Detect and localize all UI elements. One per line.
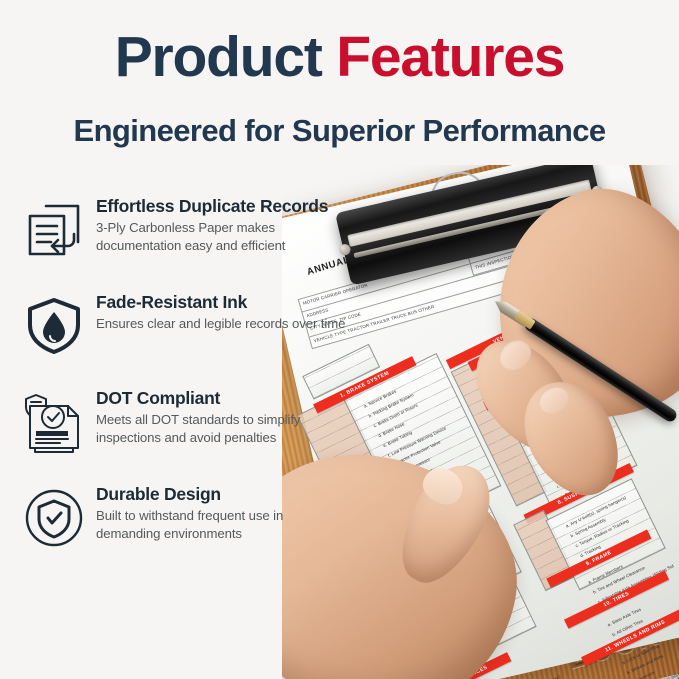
feature-description: Ensures clear and legible records over t… <box>96 315 348 333</box>
feature-item: DOT Compliant Meets all DOT standards to… <box>18 388 348 484</box>
shield-ink-drop-icon <box>22 294 86 358</box>
feature-item: Fade-Resistant Ink Ensures clear and leg… <box>18 292 348 388</box>
title-part-features: Features <box>336 25 564 89</box>
shield-check-circle-icon <box>22 486 86 550</box>
feature-description: Built to withstand frequent use in deman… <box>96 507 348 542</box>
feature-title: Durable Design <box>96 484 348 505</box>
page-title: Product Features <box>0 26 679 88</box>
title-part-product: Product <box>115 25 337 89</box>
page-subtitle: Engineered for Superior Performance <box>0 113 679 149</box>
feature-title: DOT Compliant <box>96 388 348 409</box>
feature-item: Durable Design Built to withstand freque… <box>18 484 348 580</box>
document-shield-check-icon <box>22 390 86 454</box>
feature-description: Meets all DOT standards to simplify insp… <box>96 411 348 446</box>
feature-description: 3-Ply Carbonless Paper makes documentati… <box>96 219 348 254</box>
infographic-canvas: Product Features Engineered for Superior… <box>0 0 679 679</box>
feature-title: Fade-Resistant Ink <box>96 292 348 313</box>
duplicate-documents-icon <box>22 198 86 262</box>
feature-item: Effortless Duplicate Records 3-Ply Carbo… <box>18 196 348 292</box>
feature-title: Effortless Duplicate Records <box>96 196 348 217</box>
feature-list: Effortless Duplicate Records 3-Ply Carbo… <box>18 196 348 580</box>
